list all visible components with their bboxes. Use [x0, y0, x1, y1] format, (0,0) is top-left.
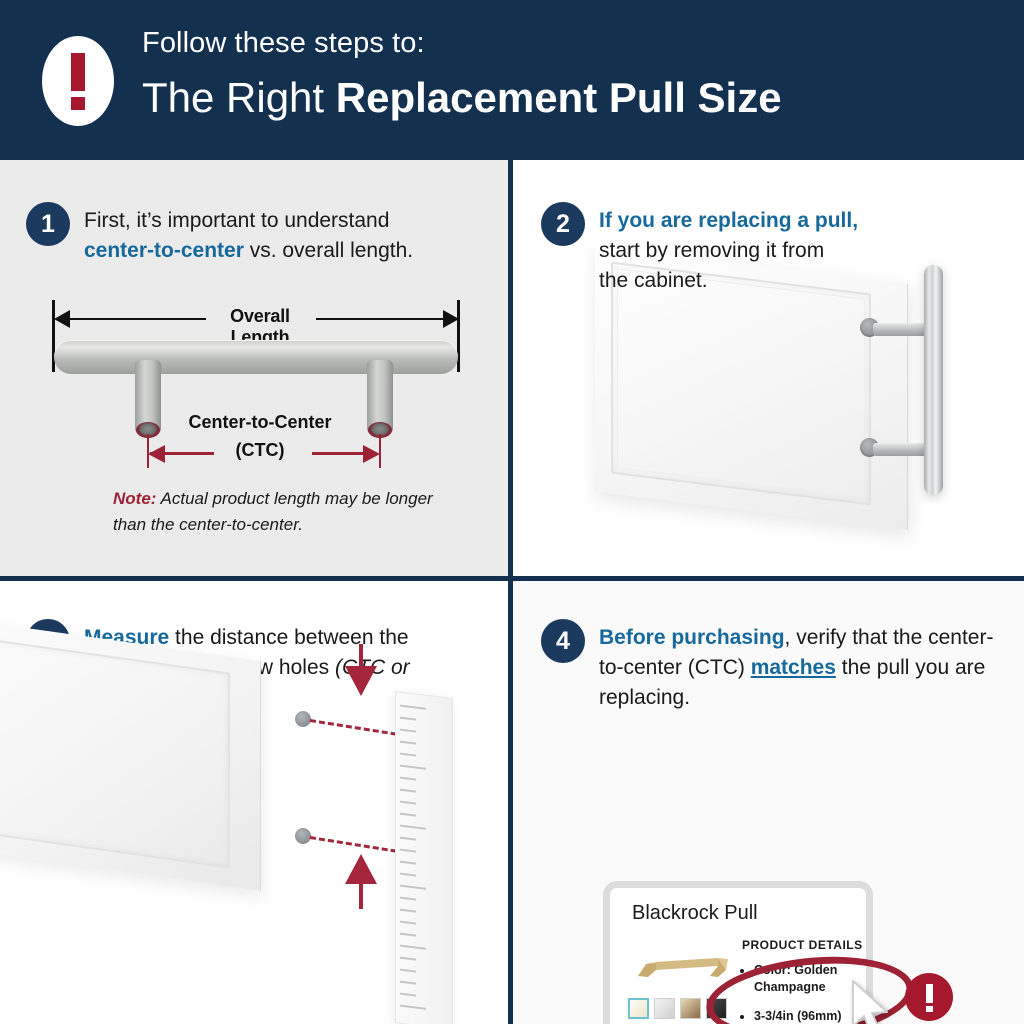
step-panel-3: 3 Measure the distance between the cente… — [0, 581, 508, 1024]
pull-stem-top — [873, 323, 931, 336]
note-text: Note: Actual product length may be longe… — [113, 486, 443, 537]
step-text-1: First, it’s important to understandcente… — [84, 206, 454, 266]
ruler-tick — [400, 993, 416, 997]
ruler-tick — [400, 909, 416, 913]
header-banner: Follow these steps to: The Right Replace… — [0, 0, 1024, 160]
step-text-2: If you are replacing a pull, start by re… — [599, 206, 859, 295]
title-light: The Right — [142, 74, 336, 121]
grid-divider-horizontal — [0, 576, 1024, 581]
ruler-tick — [400, 957, 416, 961]
ruler-tick — [400, 825, 426, 830]
mouse-pointer-icon — [849, 979, 895, 1024]
step2-plain: start by removing it from the cabinet. — [599, 239, 824, 292]
ruler-tick — [400, 981, 416, 985]
arrow-up-icon — [345, 854, 377, 884]
cabinet-door-inset-2 — [617, 268, 865, 498]
ruler-tick — [400, 1005, 426, 1010]
title-bold: Replacement Pull Size — [336, 74, 782, 121]
ruler-tick — [400, 813, 416, 817]
step-number-1: 1 — [26, 202, 70, 246]
step-panel-2: 2 If you are replacing a pull, start by … — [513, 160, 1024, 576]
screw-hole-top-measure — [295, 711, 311, 727]
page-title: The Right Replacement Pull Size — [142, 74, 782, 122]
overall-line-right — [316, 318, 457, 320]
ruler-tick — [400, 921, 416, 925]
ruler-tick — [400, 765, 426, 770]
ruler-tick — [400, 777, 416, 781]
pull-bar — [54, 340, 458, 374]
ruler-tick — [400, 933, 416, 937]
arrow-stem-up — [359, 883, 363, 909]
ruler-tick — [400, 729, 416, 733]
ruler-tick — [400, 753, 416, 757]
swatch-3[interactable] — [680, 998, 701, 1019]
product-details-heading: PRODUCT DETAILS — [742, 938, 863, 952]
step1-accent: center-to-center — [84, 239, 244, 262]
grid-divider-vertical — [508, 160, 513, 1024]
gold-pull-icon — [634, 946, 730, 980]
ruler-tick — [400, 801, 416, 805]
overall-arrowhead-right — [443, 310, 459, 328]
ruler-tick — [400, 945, 426, 950]
ruler-tick — [400, 705, 426, 710]
infographic-page: Follow these steps to: The Right Replace… — [0, 0, 1024, 1024]
overall-arrowhead-left — [54, 310, 70, 328]
ctc-line-right — [312, 452, 363, 455]
ctc-abbrev-label: (CTC) — [214, 440, 306, 461]
arrow-down-icon — [345, 666, 377, 696]
pull-dimension-diagram: Overall Length Center-to-Center (CTC) — [40, 300, 472, 480]
ctc-label: Center-to-Center — [170, 412, 350, 433]
step1-line2: vs. overall length. — [244, 239, 413, 262]
ruler-tick — [400, 897, 416, 901]
ruler-tick — [400, 885, 426, 890]
screw-hole-bottom-measure — [295, 828, 311, 844]
matches-link[interactable]: matches — [751, 656, 836, 679]
ruler-tick — [400, 861, 416, 865]
swatch-2[interactable] — [654, 998, 675, 1019]
cabinet-door-inset-measure — [0, 639, 230, 869]
pull-bar-vertical — [924, 265, 943, 495]
ruler-tick — [400, 789, 416, 793]
step-panel-1: 1 First, it’s important to understandcen… — [0, 160, 508, 576]
ctc-arrowhead-left — [148, 445, 165, 463]
swatch-1[interactable] — [628, 998, 649, 1019]
step4-accent: Before purchasing — [599, 626, 785, 649]
ruler-tick — [400, 717, 416, 721]
steps-grid: 1 First, it’s important to understandcen… — [0, 160, 1024, 1024]
ruler — [395, 691, 453, 1024]
step-number-4: 4 — [541, 619, 585, 663]
alert-exclamation-icon — [905, 973, 953, 1021]
ruler-tick — [400, 741, 416, 745]
step-text-4: Before purchasing, verify that the cente… — [599, 623, 999, 712]
ruler-tick — [400, 969, 416, 973]
step2-accent: If you are replacing a pull, — [599, 209, 858, 232]
cabinet-door-measure — [0, 620, 261, 891]
step1-line1: First, it’s important to understand — [84, 209, 389, 232]
step-panel-4: 4 Before purchasing, verify that the cen… — [513, 581, 1024, 1024]
exclamation-icon — [42, 36, 114, 126]
overall-line-left — [56, 318, 206, 320]
header-kicker: Follow these steps to: — [142, 28, 782, 60]
step-number-2: 2 — [541, 202, 585, 246]
note-body: Actual product length may be longer than… — [113, 489, 433, 534]
pull-stem-bottom — [873, 443, 931, 456]
ruler-tick — [400, 849, 416, 853]
ctc-arrowhead-right — [363, 445, 380, 463]
ruler-tick — [400, 837, 416, 841]
ruler-tick — [400, 873, 416, 877]
product-title: Blackrock Pull — [632, 902, 758, 925]
header-text-block: Follow these steps to: The Right Replace… — [142, 28, 782, 122]
note-label: Note: — [113, 489, 156, 508]
